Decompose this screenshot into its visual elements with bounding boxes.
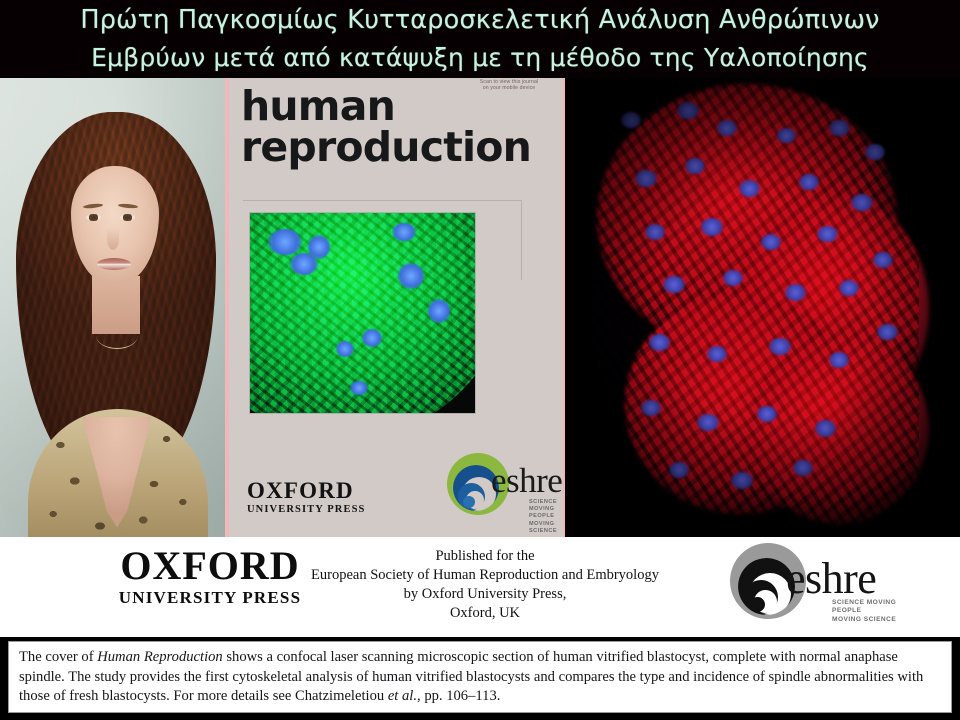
image-vignette bbox=[565, 78, 960, 537]
caption-part-3: , pp. 106–113. bbox=[417, 688, 500, 704]
published-line-1: Published for the bbox=[290, 547, 680, 566]
oup-logo-small: UNIVERSITY PRESS bbox=[100, 587, 320, 609]
published-for-text: Published for the European Society of Hu… bbox=[290, 547, 680, 623]
eshre-tagline-line-3: MOVING SCIENCE bbox=[832, 616, 896, 624]
necklace bbox=[96, 322, 138, 349]
presentation-slide: Πρώτη Παγκοσμίως Κυτταροσκελετική Ανάλυσ… bbox=[0, 0, 960, 720]
cover-oup-big: OXFORD bbox=[247, 479, 365, 503]
spindle-nucleus bbox=[392, 223, 416, 241]
eshre-tagline-line-1: SCIENCE MOVING bbox=[529, 499, 565, 513]
cover-caption: The cover of Human Reproduction shows a … bbox=[8, 641, 952, 713]
portrait-photo bbox=[0, 78, 227, 537]
caption-journal-name: Human Reproduction bbox=[97, 649, 223, 665]
title-line-2: Εμβρύων μετά από κατάψυξη με τη μέθοδο τ… bbox=[0, 39, 960, 76]
published-line-4: Oxford, UK bbox=[290, 604, 680, 623]
bar-eshre-logo: eshre SCIENCE MOVING PEOPLE MOVING SCIEN… bbox=[730, 543, 930, 629]
eshre-tagline-line-1: SCIENCE MOVING bbox=[832, 599, 896, 607]
eshre-tagline: SCIENCE MOVING PEOPLE MOVING SCIENCE bbox=[832, 599, 896, 624]
eshre-tagline-line-2: PEOPLE bbox=[832, 607, 896, 615]
eye-left bbox=[86, 214, 101, 221]
eshre-wordmark: eshre bbox=[491, 463, 562, 498]
cover-eshre-logo: eshre SCIENCE MOVING PEOPLE MOVING SCIEN… bbox=[447, 453, 565, 523]
publisher-bar: OXFORD UNIVERSITY PRESS Published for th… bbox=[0, 537, 960, 637]
bar-caption-divider bbox=[0, 636, 960, 637]
cover-micrograph bbox=[250, 213, 475, 413]
spindle-nucleus bbox=[308, 235, 330, 259]
caption-et-al: et al. bbox=[388, 688, 417, 704]
cover-oup-logo: OXFORD UNIVERSITY PRESS bbox=[247, 479, 365, 517]
eshre-tagline-line-3: MOVING SCIENCE bbox=[529, 521, 565, 535]
image-row: Scan to view this journal on your mobile… bbox=[0, 78, 960, 537]
spindle-nucleus bbox=[268, 229, 302, 255]
spindle-nucleus bbox=[362, 329, 382, 347]
confocal-micrograph bbox=[565, 78, 960, 537]
slide-title: Πρώτη Παγκοσμίως Κυτταροσκελετική Ανάλυσ… bbox=[0, 0, 960, 78]
eshre-tagline-line-2: PEOPLE bbox=[529, 513, 565, 520]
cover-oup-small: UNIVERSITY PRESS bbox=[247, 503, 365, 517]
nose-shape bbox=[107, 228, 119, 250]
published-line-3: by Oxford University Press, bbox=[290, 585, 680, 604]
spindle-nucleus bbox=[350, 381, 368, 395]
oup-logo: OXFORD UNIVERSITY PRESS bbox=[100, 545, 320, 609]
published-line-2: European Society of Human Reproduction a… bbox=[290, 566, 680, 585]
eshre-wordmark: eshre bbox=[786, 557, 876, 601]
spindle-nucleus bbox=[336, 341, 354, 357]
journal-cover: Scan to view this journal on your mobile… bbox=[227, 78, 565, 537]
eshre-tagline: SCIENCE MOVING PEOPLE MOVING SCIENCE bbox=[529, 499, 565, 535]
spindle-nucleus bbox=[428, 299, 450, 323]
journal-title-word-2: reproduction bbox=[241, 125, 531, 169]
mouth-shape bbox=[97, 258, 131, 270]
spindle-nucleus bbox=[398, 263, 424, 289]
journal-title: human reproduction bbox=[241, 84, 531, 169]
cover-rule-horizontal bbox=[243, 200, 521, 201]
title-line-1: Πρώτη Παγκοσμίως Κυτταροσκελετική Ανάλυσ… bbox=[0, 0, 960, 39]
eye-right bbox=[120, 214, 135, 221]
caption-part-1: The cover of bbox=[19, 649, 97, 665]
oup-logo-big: OXFORD bbox=[100, 545, 320, 587]
cover-rule-vertical bbox=[521, 200, 522, 280]
